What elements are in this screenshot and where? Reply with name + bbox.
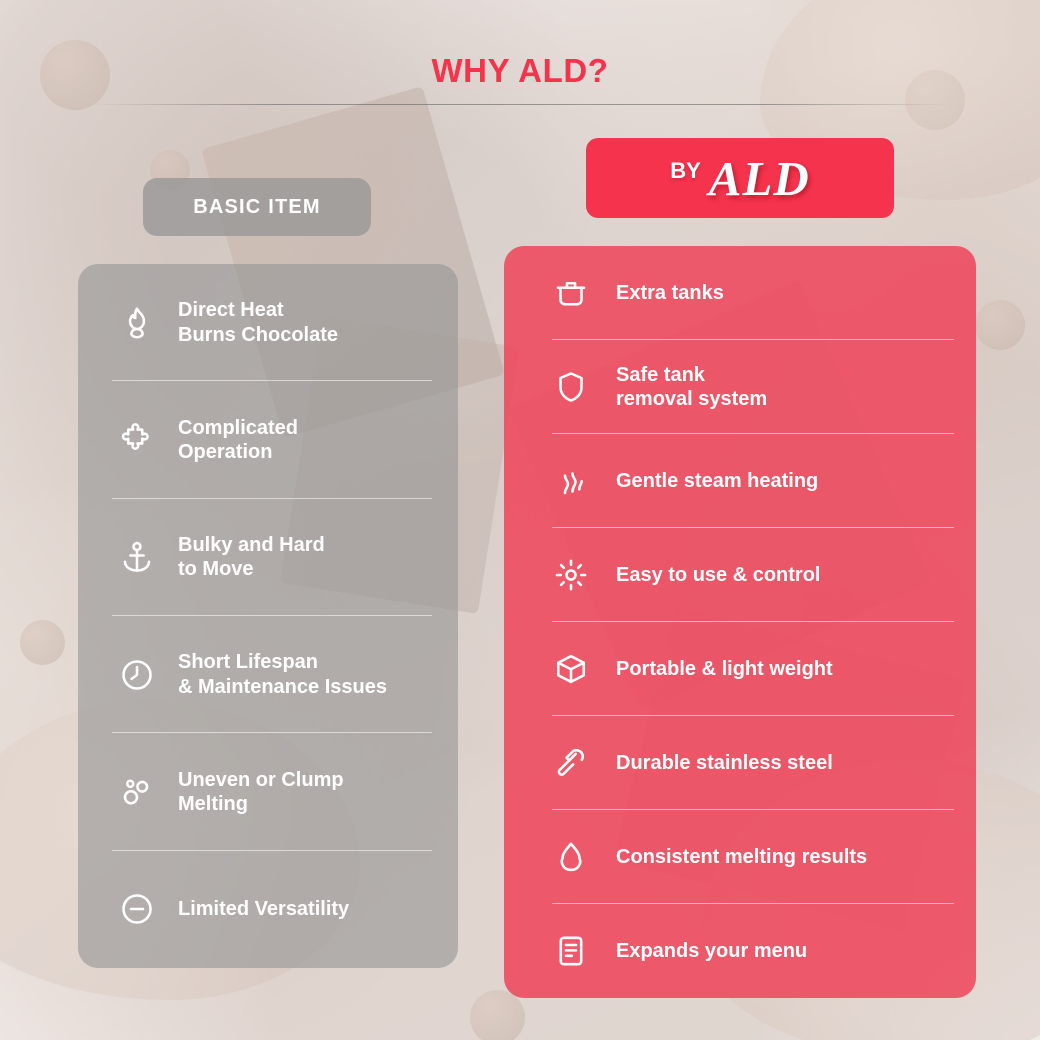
list-item: Limited Versatility [78,851,458,968]
list-item: Consistent melting results [504,810,976,904]
box-icon [544,642,598,696]
list-item-label: Easy to use & control [616,563,821,587]
list-item-label: Limited Versatility [178,897,349,921]
list-item: Portable & light weight [504,622,976,716]
title-divider [90,104,950,105]
list-item-label: Bulky and Hard to Move [178,533,325,582]
list-item-label: Complicated Operation [178,416,298,465]
ald-items-panel: Extra tanks Safe tank removal system [504,246,976,998]
list-item-label: Extra tanks [616,281,724,305]
list-item-label: Uneven or Clump Melting [178,768,344,817]
list-item-label: Consistent melting results [616,845,867,869]
puzzle-icon [110,413,164,467]
book-icon [544,924,598,978]
flame-icon [110,296,164,350]
list-item-label: Expands your menu [616,939,807,963]
hammer-icon [544,736,598,790]
list-item-label: Safe tank removal system [616,363,767,412]
ald-header-by-label: BY [670,158,701,184]
list-item: Durable stainless steel [504,716,976,810]
list-item-label: Direct Heat Burns Chocolate [178,298,338,347]
list-item: Complicated Operation [78,381,458,498]
list-item: Safe tank removal system [504,340,976,434]
minus-circle-icon [110,882,164,936]
ald-header-brand-label: ALD [709,150,810,207]
clumps-icon [110,765,164,819]
steam-icon [544,454,598,508]
droplet-icon [544,830,598,884]
comparison-infographic: WHY ALD? BASIC ITEM BY ALD Direct Heat B… [0,0,1040,1040]
basic-column-header-label: BASIC ITEM [193,196,321,219]
list-item-label: Short Lifespan & Maintenance Issues [178,650,387,699]
basic-items-panel: Direct Heat Burns Chocolate Complicated … [78,264,458,968]
list-item: Expands your menu [504,904,976,998]
list-item: Extra tanks [504,246,976,340]
ald-items-list: Extra tanks Safe tank removal system [504,246,976,998]
list-item: Short Lifespan & Maintenance Issues [78,616,458,733]
gear-icon [544,548,598,602]
list-item: Direct Heat Burns Chocolate [78,264,458,381]
list-item: Bulky and Hard to Move [78,499,458,616]
ald-column-header: BY ALD [586,138,894,218]
basic-items-list: Direct Heat Burns Chocolate Complicated … [78,264,458,968]
anchor-icon [110,530,164,584]
shield-icon [544,360,598,414]
list-item: Uneven or Clump Melting [78,733,458,850]
basic-column-header: BASIC ITEM [143,178,371,236]
list-item: Gentle steam heating [504,434,976,528]
list-item: Easy to use & control [504,528,976,622]
list-item-label: Gentle steam heating [616,469,818,493]
page-title: WHY ALD? [0,52,1040,90]
list-item-label: Portable & light weight [616,657,833,681]
list-item-label: Durable stainless steel [616,751,833,775]
clock-icon [110,648,164,702]
pot-icon [544,266,598,320]
